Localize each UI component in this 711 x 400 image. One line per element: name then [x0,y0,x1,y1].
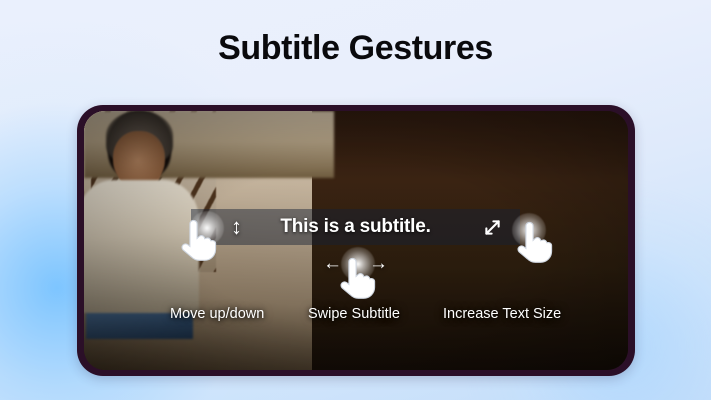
arrows-diagonal-resize-icon [482,217,503,242]
arrow-left-icon: ← [323,254,342,273]
hand-pointer-icon [177,217,219,263]
arrow-right-icon: → [369,254,388,273]
gesture-label-swipe-subtitle: Swipe Subtitle [308,306,400,322]
gesture-label-move-up-down: Move up/down [170,306,264,322]
gesture-label-row: Move up/down Swipe Subtitle Increase Tex… [84,306,628,328]
phone-device-frame: This is a subtitle. ↕ ← → [77,105,635,376]
hand-pointer-icon [513,219,555,265]
arrows-vertical-icon: ↕ [231,216,242,238]
gesture-label-increase-text-size: Increase Text Size [443,306,561,322]
subtitle-text: This is a subtitle. [280,216,430,238]
page-title: Subtitle Gestures [0,29,711,68]
video-player-screen[interactable]: This is a subtitle. ↕ ← → [84,111,628,370]
